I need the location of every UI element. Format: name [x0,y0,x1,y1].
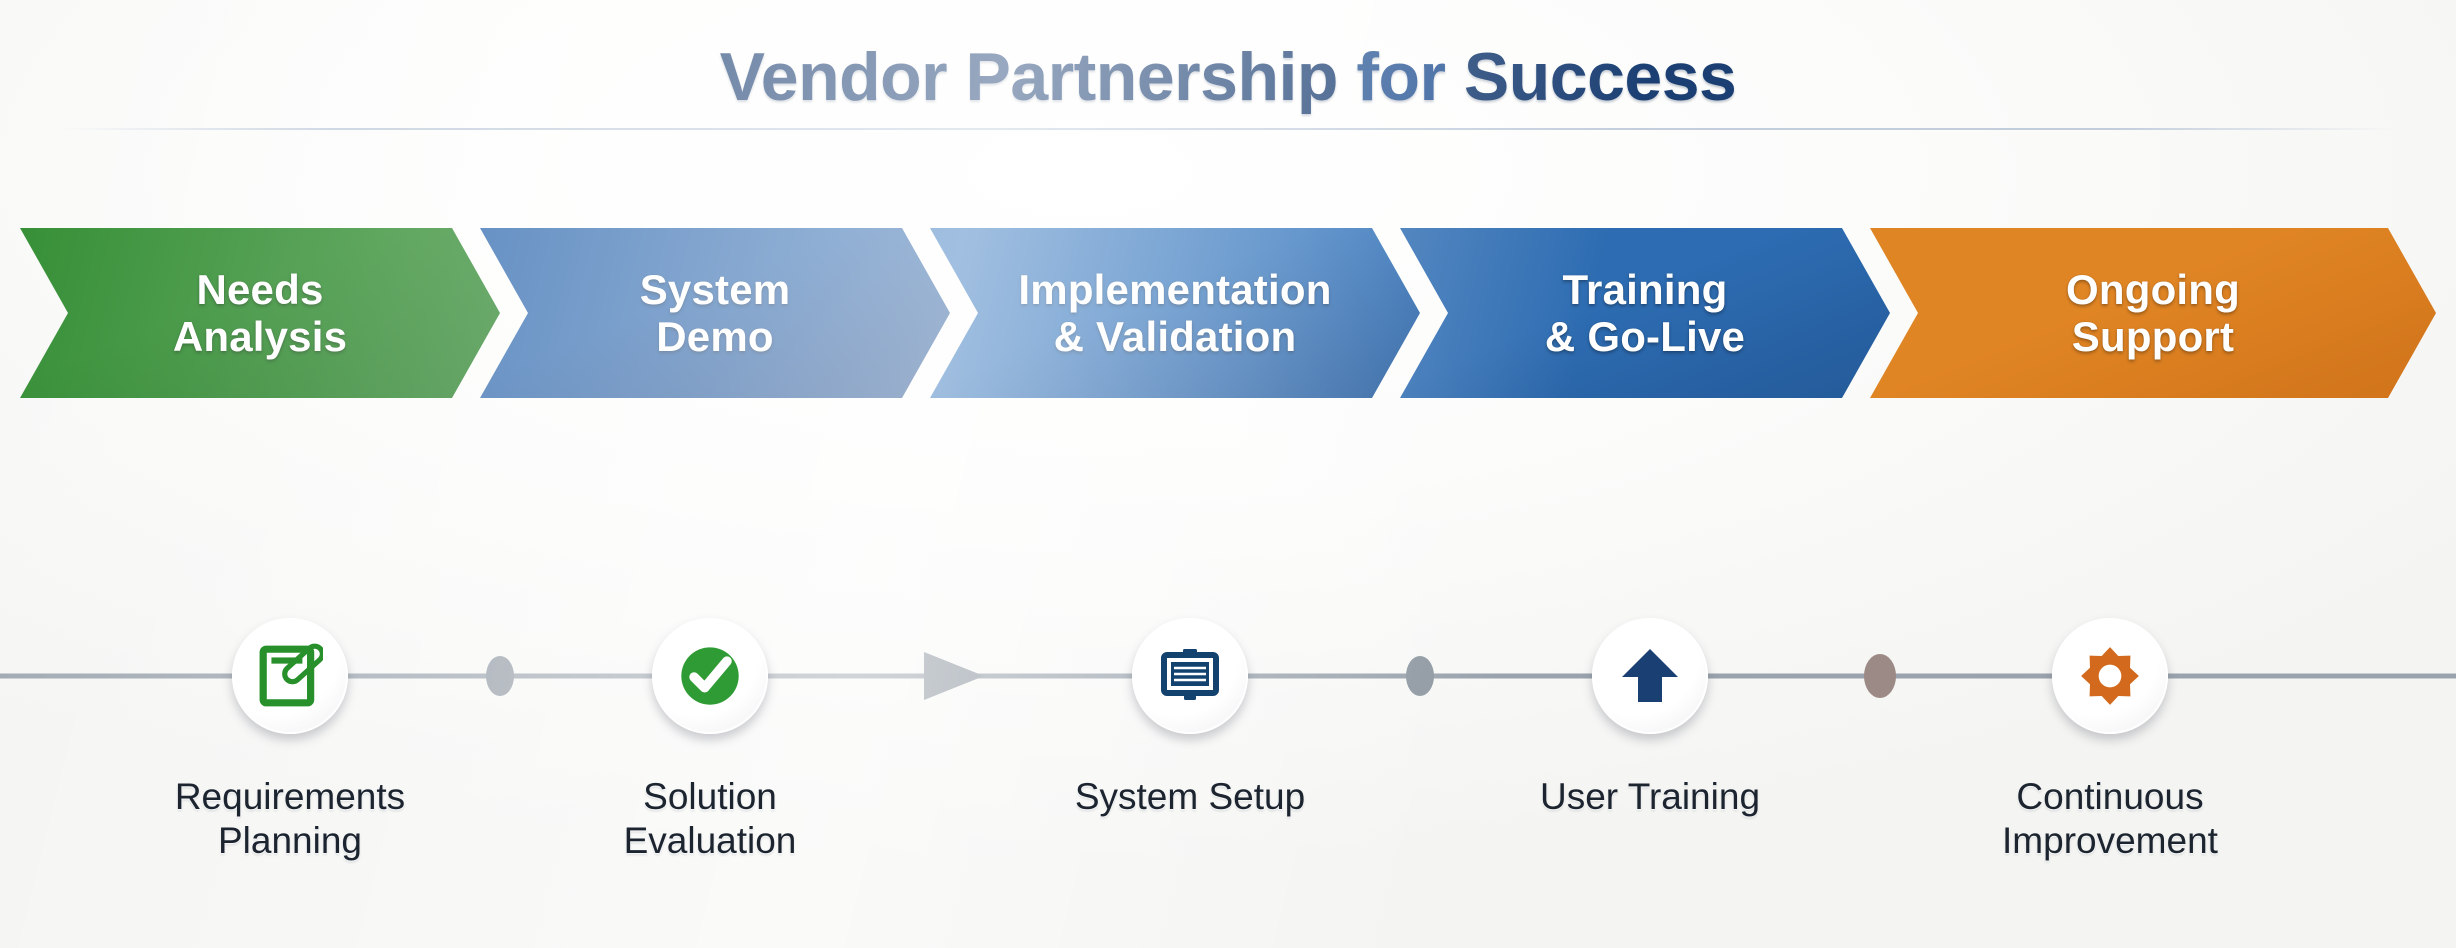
title-divider [60,128,2396,130]
process-chevron-band: Needs AnalysisSystem DemoImplementation … [0,228,2456,398]
chevron-label-training-go-live: Training & Go-Live [1527,266,1763,360]
page-title-part-2: Success [1445,39,1736,115]
chevron-label-needs-analysis: Needs Analysis [155,266,365,360]
poster-background [0,0,2456,948]
chevron-training-go-live[interactable]: Training & Go-Live [1400,228,1890,398]
chevron-implementation-validation[interactable]: Implementation & Validation [930,228,1420,398]
chevron-label-system-demo: System Demo [622,266,809,360]
chevron-label-ongoing-support: Ongoing Support [2048,266,2258,360]
chevron-system-demo[interactable]: System Demo [480,228,950,398]
chevron-label-implementation-validation: Implementation & Validation [1000,266,1349,360]
page-title-part-1: Vendor Partnership [720,39,1357,115]
page-title: Vendor Partnership for Success [0,38,2456,116]
chevron-ongoing-support[interactable]: Ongoing Support [1870,228,2436,398]
chevron-needs-analysis[interactable]: Needs Analysis [20,228,500,398]
page-title-connector-word: for [1356,39,1445,115]
